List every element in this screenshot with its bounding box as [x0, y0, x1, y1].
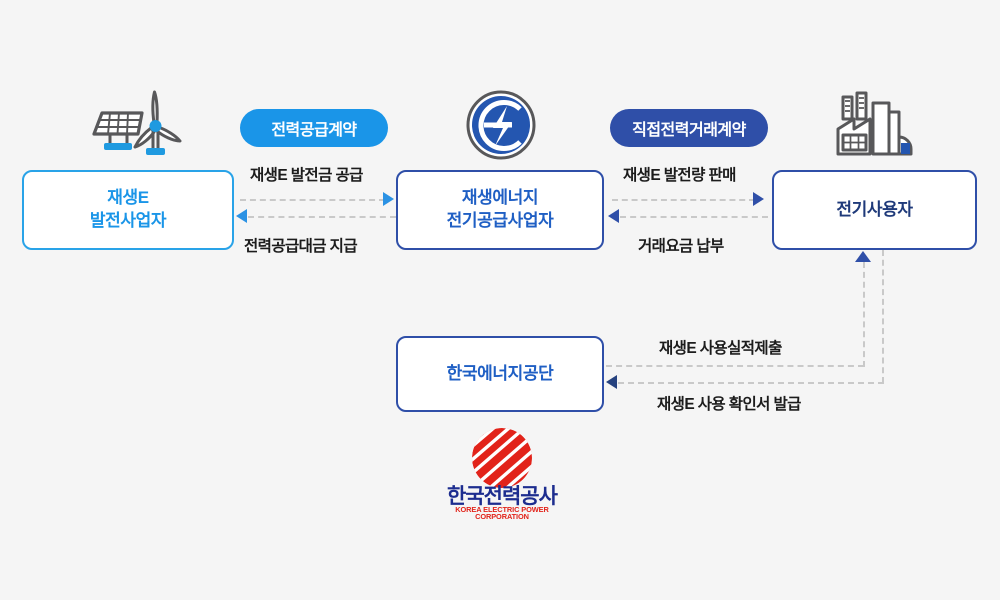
entity-box-agency[interactable]: 한국에너지공단 [396, 336, 604, 412]
entity-label-generator: 재생E 발전사업자 [90, 187, 166, 233]
flow-arrow-gen-to-supplier [383, 192, 394, 206]
entity-label-agency-line1: 한국에너지공단 [447, 363, 554, 386]
solar-wind-icon [72, 86, 182, 164]
flow-label-agency-to-user: 재생E 사용실적제출 [659, 336, 782, 358]
entity-box-supplier[interactable]: 재생에너지 전기공급사업자 [396, 170, 604, 250]
entity-box-user[interactable]: 전기사용자 [772, 170, 977, 250]
badge-direct-trade-contract[interactable]: 직접전력거래계약 [610, 109, 768, 147]
entity-label-supplier: 재생에너지 전기공급사업자 [447, 187, 554, 233]
entity-label-user-line1: 전기사용자 [836, 199, 912, 222]
flow-line-supplier-to-user [612, 199, 755, 201]
flow-arrow-user-to-supplier [608, 209, 619, 223]
entity-label-generator-line2: 발전사업자 [90, 210, 166, 233]
flow-line-user-to-agency-horizontal [618, 382, 884, 384]
flow-line-gen-to-supplier [240, 199, 385, 201]
kepco-logo-english-text: KOREA ELECTRIC POWER CORPORATION [428, 506, 576, 521]
flow-arrow-supplier-to-user [753, 192, 764, 206]
kepco-logo-mark [460, 428, 544, 488]
flow-label-user-to-agency: 재생E 사용 확인서 발급 [657, 392, 801, 414]
flow-arrow-agency-to-user [855, 251, 871, 262]
entity-box-generator[interactable]: 재생E 발전사업자 [22, 170, 234, 250]
badge-supply-contract[interactable]: 전력공급계약 [240, 109, 388, 147]
flow-label-gen-to-supplier: 재생E 발전금 공급 [250, 163, 363, 185]
diagram-canvas: 전력공급계약 직접전력거래계약 재생E 발전사업자 재생에너지 전기공급사업자 … [0, 0, 1000, 600]
entity-label-supplier-line1: 재생에너지 [447, 187, 554, 210]
factory-icon [832, 88, 918, 164]
flow-arrow-supplier-to-gen [236, 209, 247, 223]
flow-line-user-to-supplier [620, 216, 768, 218]
kepco-emblem-icon [462, 88, 540, 162]
entity-label-agency: 한국에너지공단 [447, 363, 554, 386]
flow-line-supplier-to-gen [248, 216, 396, 218]
flow-line-agency-to-user-horizontal [606, 365, 864, 367]
entity-label-generator-line1: 재생E [90, 187, 166, 210]
flow-label-user-to-supplier: 거래요금 납부 [638, 234, 724, 256]
flow-label-supplier-to-gen: 전력공급대금 지급 [244, 234, 357, 256]
kepco-logo-korean-text: 한국전력공사 [428, 486, 576, 507]
flow-line-user-to-agency-vertical [882, 250, 884, 383]
kepco-logo: 한국전력공사 KOREA ELECTRIC POWER CORPORATION [428, 428, 576, 518]
flow-line-agency-to-user-vertical [863, 262, 865, 367]
flow-arrow-user-to-agency [606, 375, 617, 389]
entity-label-user: 전기사용자 [836, 199, 912, 222]
entity-label-supplier-line2: 전기공급사업자 [447, 210, 554, 233]
flow-label-supplier-to-user: 재생E 발전량 판매 [623, 163, 736, 185]
